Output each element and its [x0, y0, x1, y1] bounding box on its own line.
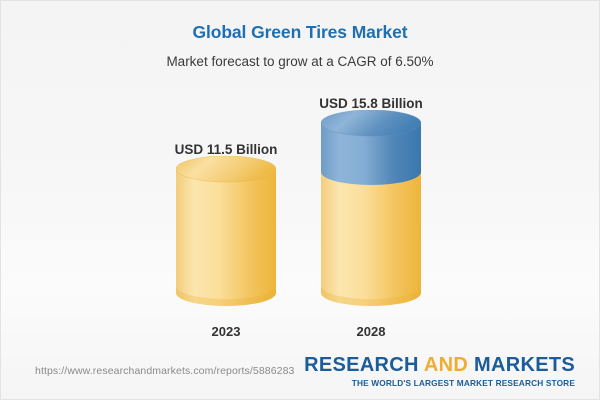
logo-tagline: THE WORLD'S LARGEST MARKET RESEARCH STOR…	[304, 379, 575, 387]
chart-header: Global Green Tires Market Market forecas…	[1, 1, 599, 69]
chart-subtitle: Market forecast to grow at a CAGR of 6.5…	[1, 43, 599, 69]
logo-wordmark: RESEARCH AND MARKETS	[304, 355, 575, 375]
report-url[interactable]: https://www.researchandmarkets.com/repor…	[35, 365, 294, 377]
cylinder-bar-2028	[321, 110, 421, 306]
logo-research-text: RESEARCH	[304, 354, 424, 376]
chart-card: Global Green Tires Market Market forecas…	[0, 0, 600, 400]
x-axis-label-2028: 2028	[291, 324, 451, 339]
chart-footer: https://www.researchandmarkets.com/repor…	[1, 347, 599, 399]
bar-group-2028: USD 15.8 Billion	[291, 91, 451, 341]
bar-value-label-2028: USD 15.8 Billion	[291, 96, 451, 111]
cylinder-2023-svg	[176, 156, 276, 306]
cylinder-bar-2023	[176, 156, 276, 306]
bar-group-2023: USD 11.5 Billion	[146, 91, 306, 341]
logo-and-text: AND	[424, 354, 468, 376]
logo-markets-text: MARKETS	[468, 354, 575, 376]
research-and-markets-logo: RESEARCH AND MARKETS THE WORLD'S LARGEST…	[304, 355, 575, 387]
bar-value-label-2023: USD 11.5 Billion	[146, 142, 306, 157]
chart-plot-area: USD 11.5 Billion	[1, 91, 600, 341]
x-axis-label-2023: 2023	[146, 324, 306, 339]
cylinder-2028-svg	[321, 110, 421, 306]
chart-title: Global Green Tires Market	[1, 22, 599, 43]
